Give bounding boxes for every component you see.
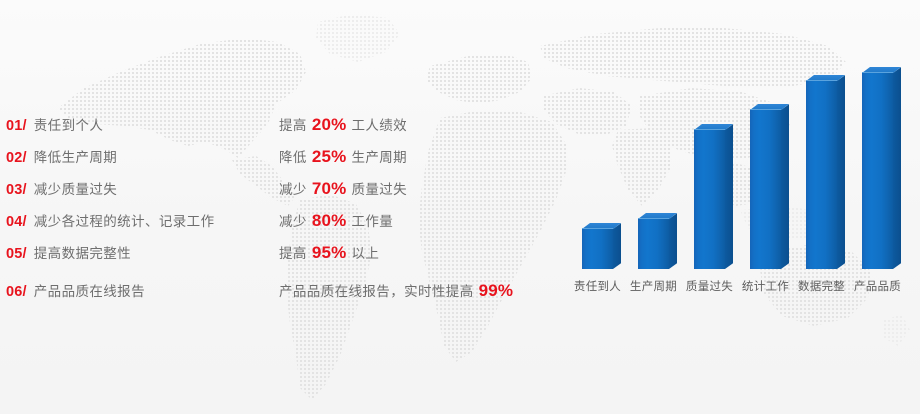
bar-top-highlight: [638, 218, 669, 219]
bar-side-face: [725, 124, 733, 269]
list-item: 06/ 产品品质在线报告: [6, 274, 271, 318]
result-suffix: 以上: [351, 242, 379, 262]
axis-label-2: 生产周期: [626, 278, 681, 294]
list-item-number: 03/: [6, 182, 27, 198]
bar-side-face: [781, 104, 789, 269]
list-item-number: 02/: [6, 150, 27, 166]
result-item: 减少 70% 质量过失: [279, 178, 549, 210]
bar-chart-axis-labels: 责任到人生产周期质量过失统计工作数据完整产品品质: [560, 278, 920, 298]
result-prefix: 提高: [279, 114, 307, 134]
list-item-label: 减少各过程的统计、记录工作: [34, 210, 215, 230]
bar-front-face: [806, 81, 837, 269]
bar-front-face: [862, 73, 893, 269]
result-item: 减少 80% 工作量: [279, 210, 549, 242]
result-percentage: 95%: [312, 243, 347, 263]
result-prefix: 提高: [279, 242, 307, 262]
bar-5: [806, 81, 837, 269]
result-percentage: 80%: [312, 211, 347, 231]
list-item: 03/ 减少质量过失: [6, 178, 271, 210]
axis-label-1: 责任到人: [570, 278, 625, 294]
result-percentage: 20%: [312, 115, 347, 135]
bar-1: [582, 229, 613, 269]
list-item: 02/ 降低生产周期: [6, 146, 271, 178]
list-item: 05/ 提高数据完整性: [6, 242, 271, 274]
result-percentage: 25%: [312, 147, 347, 167]
bar-top-highlight: [582, 228, 613, 229]
result-item: 产品品质在线报告，实时性提高 99%: [279, 274, 549, 318]
axis-label-6: 产品品质: [850, 278, 905, 294]
bar-chart: 责任到人生产周期质量过失统计工作数据完整产品品质: [560, 26, 920, 316]
bar-front-face: [582, 229, 613, 269]
bar-top-highlight: [694, 129, 725, 130]
bar-top-highlight: [862, 72, 893, 73]
result-item: 提高 95% 以上: [279, 242, 549, 274]
bar-2: [638, 219, 669, 269]
bar-front-face: [750, 110, 781, 269]
infographic-stage: 01/ 责任到个人 02/ 降低生产周期 03/ 减少质量过失 04/ 减少各过…: [0, 0, 920, 414]
list-item-number: 05/: [6, 246, 27, 262]
bar-4: [750, 110, 781, 269]
result-suffix: 生产周期: [351, 146, 407, 166]
result-prefix: 降低: [279, 146, 307, 166]
bar-front-face: [638, 219, 669, 269]
list-item-number: 04/: [6, 214, 27, 230]
list-item-number: 06/: [6, 284, 27, 300]
list-item-label: 责任到个人: [34, 114, 104, 134]
list-item: 01/ 责任到个人: [6, 114, 271, 146]
list-item: 04/ 减少各过程的统计、记录工作: [6, 210, 271, 242]
bar-front-face: [694, 130, 725, 269]
axis-label-4: 统计工作: [738, 278, 793, 294]
result-prefix: 产品品质在线报告，实时性提高: [279, 280, 474, 300]
result-suffix: 工作量: [351, 210, 393, 230]
bar-side-face: [669, 213, 677, 269]
result-percentage: 70%: [312, 179, 347, 199]
result-item: 降低 25% 生产周期: [279, 146, 549, 178]
result-prefix: 减少: [279, 210, 307, 230]
bar-3: [694, 130, 725, 269]
bar-top-highlight: [806, 80, 837, 81]
bar-side-face: [837, 75, 845, 269]
result-prefix: 减少: [279, 178, 307, 198]
improvement-list: 01/ 责任到个人 02/ 降低生产周期 03/ 减少质量过失 04/ 减少各过…: [6, 114, 271, 318]
list-item-label: 提高数据完整性: [34, 242, 131, 262]
list-item-label: 减少质量过失: [34, 178, 117, 198]
axis-label-5: 数据完整: [794, 278, 849, 294]
list-item-number: 01/: [6, 118, 27, 134]
results-list: 提高 20% 工人绩效 降低 25% 生产周期 减少 70% 质量过失 减少 8…: [279, 114, 549, 318]
list-item-label: 产品品质在线报告: [34, 280, 145, 300]
bar-side-face: [613, 223, 621, 269]
result-suffix: 质量过失: [351, 178, 407, 198]
bar-6: [862, 73, 893, 269]
result-item: 提高 20% 工人绩效: [279, 114, 549, 146]
bar-top-highlight: [750, 109, 781, 110]
bar-side-face: [893, 67, 901, 269]
list-item-label: 降低生产周期: [34, 146, 117, 166]
axis-label-3: 质量过失: [682, 278, 737, 294]
result-suffix: 工人绩效: [351, 114, 407, 134]
result-percentage: 99%: [479, 281, 514, 301]
